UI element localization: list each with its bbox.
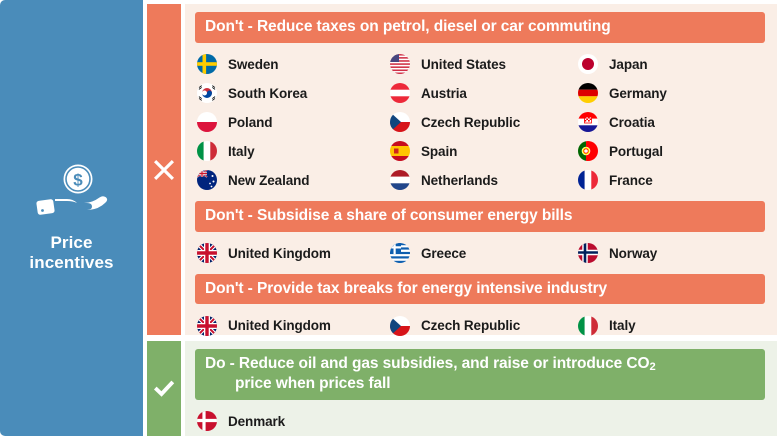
sweden-flag-icon bbox=[197, 54, 217, 74]
country-item[interactable]: Norway bbox=[578, 239, 777, 268]
do-marker-column bbox=[147, 341, 181, 436]
country-item[interactable]: Greece bbox=[390, 239, 578, 268]
country-item[interactable]: Netherlands bbox=[390, 166, 578, 195]
country-item[interactable]: Italy bbox=[578, 311, 777, 340]
country-name: Italy bbox=[228, 144, 255, 159]
france-flag-icon bbox=[578, 170, 598, 190]
country-item[interactable]: United States bbox=[390, 50, 578, 79]
infographic-root: $ Price incentives Don't - Reduc bbox=[0, 0, 777, 436]
czech-republic-flag-icon bbox=[390, 316, 410, 336]
norway-flag-icon bbox=[578, 243, 598, 263]
country-item[interactable]: Italy bbox=[197, 137, 390, 166]
country-item[interactable]: Sweden bbox=[197, 50, 390, 79]
category-label: Price incentives bbox=[29, 233, 113, 273]
svg-text:$: $ bbox=[73, 170, 83, 189]
country-grid-reduce-taxes: Sweden United States bbox=[185, 43, 777, 195]
co2-subscript: 2 bbox=[649, 361, 655, 373]
do-content-pane: Do - Reduce oil and gas subsidies, and r… bbox=[185, 341, 777, 436]
country-item[interactable]: United Kingdom bbox=[197, 239, 390, 268]
section-header-tax-breaks-industry: Don't - Provide tax breaks for energy in… bbox=[195, 274, 765, 305]
japan-flag-icon bbox=[578, 54, 598, 74]
country-item[interactable]: Poland bbox=[197, 108, 390, 137]
country-name: Greece bbox=[421, 246, 466, 261]
united-kingdom-flag-icon bbox=[197, 243, 217, 263]
country-grid-tax-breaks-industry: United Kingdom Czech Republic Italy bbox=[185, 304, 777, 340]
cross-icon bbox=[153, 159, 175, 181]
check-icon bbox=[152, 378, 176, 400]
portugal-flag-icon bbox=[578, 141, 598, 161]
section-header-reduce-subsidies: Do - Reduce oil and gas subsidies, and r… bbox=[195, 349, 765, 400]
section-header-reduce-taxes: Don't - Reduce taxes on petrol, diesel o… bbox=[195, 12, 765, 43]
new-zealand-flag-icon bbox=[197, 170, 217, 190]
country-item[interactable]: Spain bbox=[390, 137, 578, 166]
category-panel: $ Price incentives bbox=[0, 0, 143, 436]
country-name: Netherlands bbox=[421, 173, 498, 188]
country-name: Denmark bbox=[228, 414, 285, 429]
country-grid-reduce-subsidies: Denmark bbox=[185, 400, 777, 436]
dont-content-pane: Don't - Reduce taxes on petrol, diesel o… bbox=[185, 4, 777, 335]
greece-flag-icon bbox=[390, 243, 410, 263]
country-name: Italy bbox=[609, 318, 636, 333]
country-name: New Zealand bbox=[228, 173, 309, 188]
italy-flag-icon bbox=[578, 316, 598, 336]
country-item[interactable]: Czech Republic bbox=[390, 311, 578, 340]
country-item[interactable]: South Korea bbox=[197, 79, 390, 108]
country-name: Czech Republic bbox=[421, 318, 520, 333]
spain-flag-icon bbox=[390, 141, 410, 161]
czech-republic-flag-icon bbox=[390, 112, 410, 132]
country-item[interactable]: Czech Republic bbox=[390, 108, 578, 137]
country-name: Portugal bbox=[609, 144, 663, 159]
dont-marker-column bbox=[147, 4, 181, 335]
section-header-subsidise-energy-bills: Don't - Subsidise a share of consumer en… bbox=[195, 201, 765, 232]
croatia-flag-icon bbox=[578, 112, 598, 132]
category-label-line1: Price bbox=[50, 233, 92, 252]
country-name: France bbox=[609, 173, 653, 188]
country-name: United Kingdom bbox=[228, 318, 331, 333]
poland-flag-icon bbox=[197, 112, 217, 132]
united-states-flag-icon bbox=[390, 54, 410, 74]
country-name: Norway bbox=[609, 246, 657, 261]
netherlands-flag-icon bbox=[390, 170, 410, 190]
country-name: Austria bbox=[421, 86, 467, 101]
country-name: Germany bbox=[609, 86, 667, 101]
country-name: South Korea bbox=[228, 86, 307, 101]
austria-flag-icon bbox=[390, 83, 410, 103]
united-kingdom-flag-icon bbox=[197, 316, 217, 336]
germany-flag-icon bbox=[578, 83, 598, 103]
country-name: Poland bbox=[228, 115, 272, 130]
country-item[interactable]: Croatia bbox=[578, 108, 777, 137]
country-item[interactable]: New Zealand bbox=[197, 166, 390, 195]
country-name: Croatia bbox=[609, 115, 655, 130]
country-item[interactable]: Japan bbox=[578, 50, 777, 79]
country-name: Spain bbox=[421, 144, 457, 159]
country-item[interactable]: United Kingdom bbox=[197, 311, 390, 340]
italy-flag-icon bbox=[197, 141, 217, 161]
country-name: Sweden bbox=[228, 57, 278, 72]
denmark-flag-icon bbox=[197, 411, 217, 431]
south-korea-flag-icon bbox=[197, 83, 217, 103]
country-item[interactable]: Germany bbox=[578, 79, 777, 108]
country-name: Japan bbox=[609, 57, 648, 72]
section-header-line1: Do - Reduce oil and gas subsidies, and r… bbox=[205, 355, 649, 372]
category-label-line2: incentives bbox=[29, 253, 113, 272]
country-item[interactable]: France bbox=[578, 166, 777, 195]
country-item[interactable]: Austria bbox=[390, 79, 578, 108]
country-grid-subsidise-energy-bills: United Kingdom Greece bbox=[185, 232, 777, 268]
country-name: Czech Republic bbox=[421, 115, 520, 130]
country-name: United States bbox=[421, 57, 506, 72]
country-name: United Kingdom bbox=[228, 246, 331, 261]
hand-holding-coin-icon: $ bbox=[33, 163, 111, 221]
country-item[interactable]: Portugal bbox=[578, 137, 777, 166]
country-item[interactable]: Denmark bbox=[197, 407, 390, 436]
section-header-line2: price when prices fall bbox=[205, 374, 755, 394]
